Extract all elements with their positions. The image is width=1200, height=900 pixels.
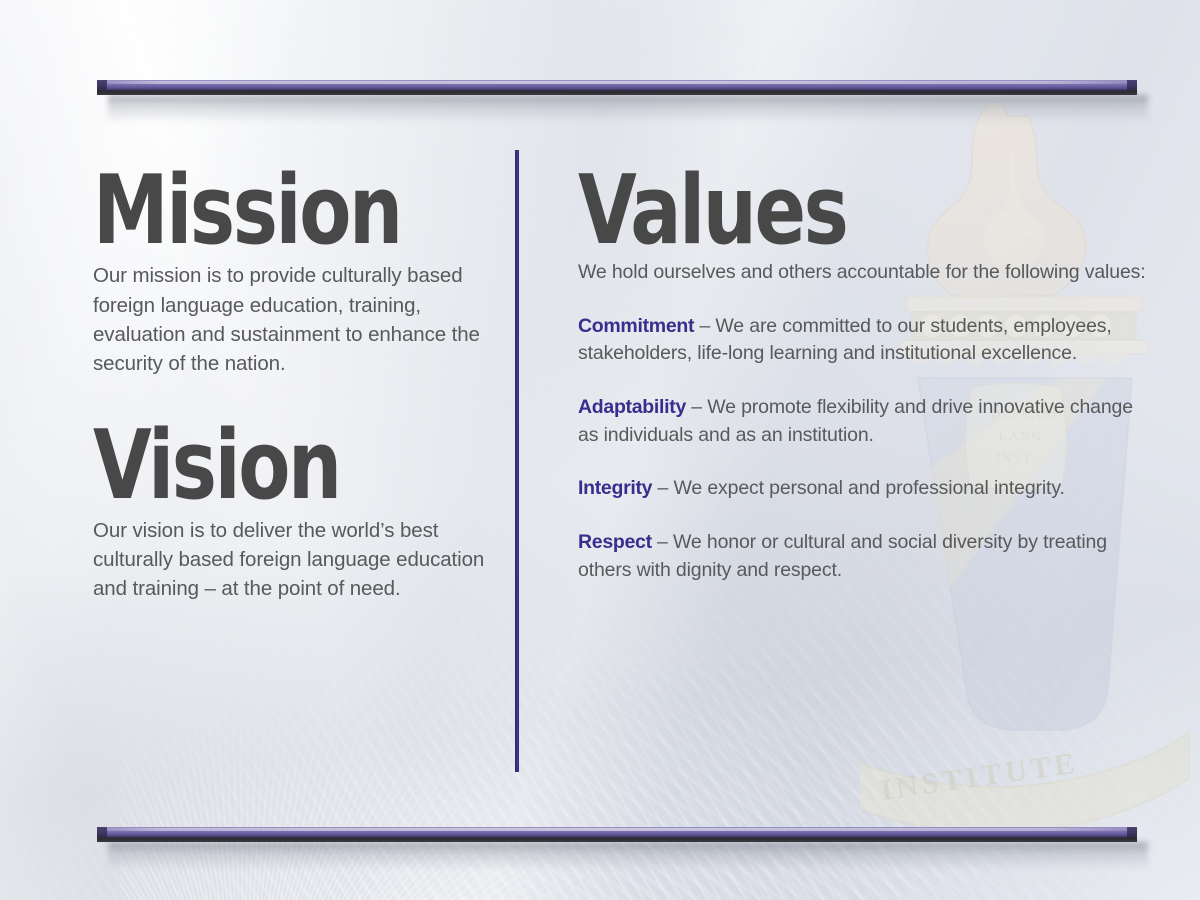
top-accent-bar-right-cap xyxy=(1127,80,1137,91)
vision-body-text: Our vision is to deliver the world’s bes… xyxy=(93,516,493,603)
mission-body-text: Our mission is to provide culturally bas… xyxy=(93,261,493,377)
value-dash: – xyxy=(686,396,707,418)
vertical-column-divider xyxy=(515,150,519,772)
value-item: Integrity – We expect personal and profe… xyxy=(578,475,1148,503)
vision-block: Vision Our vision is to deliver the worl… xyxy=(93,423,493,604)
value-dash: – xyxy=(694,315,715,337)
value-term: Commitment xyxy=(578,315,694,337)
bottom-accent-bar-left-cap xyxy=(97,827,107,838)
bottom-accent-bar-shadow xyxy=(108,842,1148,868)
mission-heading: Mission xyxy=(93,168,413,255)
value-dash: – xyxy=(652,477,673,499)
values-heading: Values xyxy=(578,168,1034,255)
top-accent-bar xyxy=(97,80,1137,91)
value-item: Commitment – We are committed to our stu… xyxy=(578,313,1148,368)
value-item: Respect – We honor or cultural and socia… xyxy=(578,529,1148,584)
vision-heading: Vision xyxy=(93,423,413,510)
bottom-accent-bar-right-cap xyxy=(1127,827,1137,838)
mission-block: Mission Our mission is to provide cultur… xyxy=(93,168,493,378)
right-column: Values We hold ourselves and others acco… xyxy=(578,168,1148,604)
top-accent-bar-highlight xyxy=(97,81,1137,84)
value-term: Adaptability xyxy=(578,396,686,418)
value-dash: – xyxy=(652,531,673,553)
top-accent-bar-shadow xyxy=(108,95,1148,121)
value-item: Adaptability – We promote flexibility an… xyxy=(578,394,1148,449)
left-column: Mission Our mission is to provide cultur… xyxy=(93,168,493,604)
bottom-accent-bar xyxy=(97,827,1137,838)
value-description: We expect personal and professional inte… xyxy=(673,477,1064,499)
top-accent-bar-left-cap xyxy=(97,80,107,91)
value-term: Respect xyxy=(578,531,652,553)
slide-canvas: DEFENSE LANG. INST. INSTITUTE Missi xyxy=(0,0,1200,900)
value-term: Integrity xyxy=(578,477,652,499)
bottom-accent-bar-highlight xyxy=(97,828,1137,831)
values-list: Commitment – We are committed to our stu… xyxy=(578,313,1148,585)
